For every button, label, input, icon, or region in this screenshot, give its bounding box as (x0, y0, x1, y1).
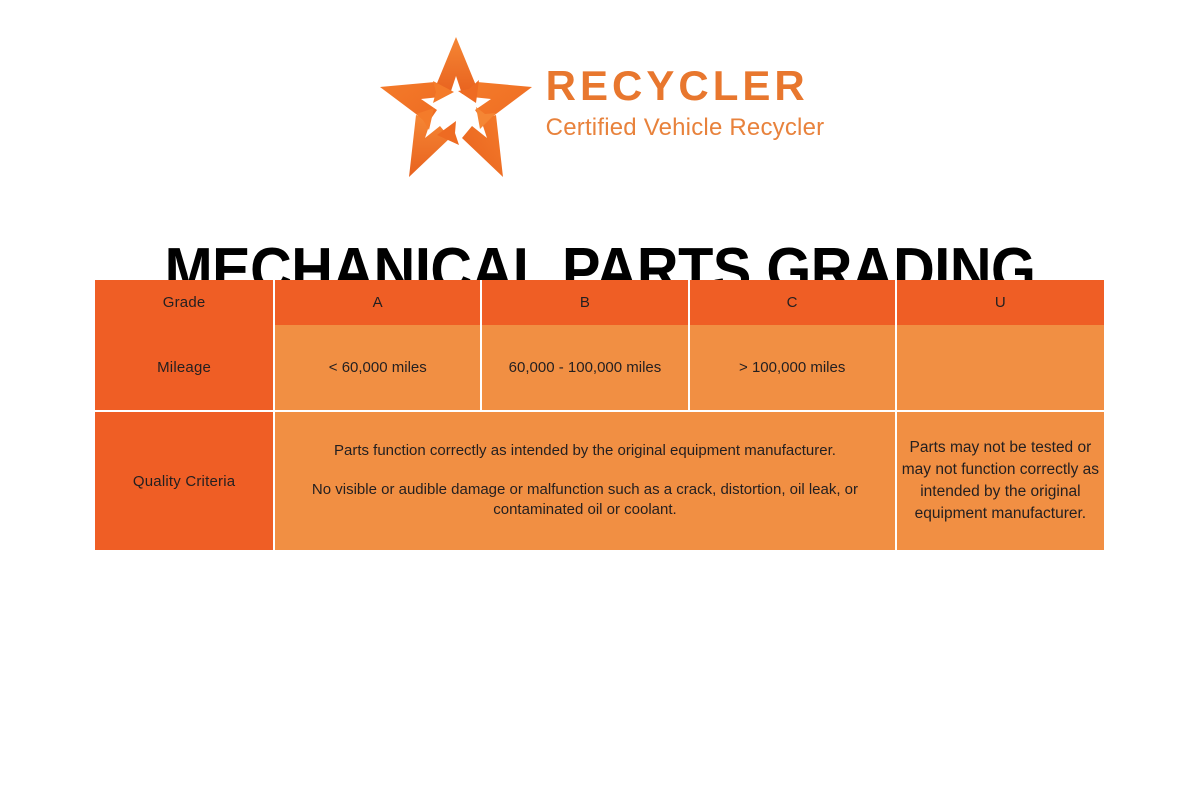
table-header-row: Grade A B C U (95, 280, 1104, 325)
quality-criteria-u-paragraph: Parts may not be tested or may not funct… (897, 437, 1104, 525)
logo-wordmark-group: RECYCLER Certified Vehicle Recycler (546, 65, 825, 146)
cell-mileage-c: > 100,000 miles (690, 325, 897, 412)
header-cell-b: B (482, 280, 689, 325)
quality-criteria-paragraph-2: No visible or audible damage or malfunct… (275, 480, 895, 521)
recycling-star-icon (376, 31, 536, 181)
logo-inner: RECYCLER Certified Vehicle Recycler (376, 31, 825, 181)
table-row-mileage: Mileage < 60,000 miles 60,000 - 100,000 … (95, 325, 1104, 412)
cell-mileage-u (897, 325, 1104, 412)
header-cell-c: C (690, 280, 897, 325)
logo-tagline: Certified Vehicle Recycler (546, 116, 825, 140)
quality-criteria-paragraph-1: Parts function correctly as intended by … (275, 441, 895, 462)
row-label-quality-criteria: Quality Criteria (95, 412, 275, 550)
cell-mileage-a: < 60,000 miles (275, 325, 482, 412)
row-label-mileage: Mileage (95, 325, 275, 412)
cell-mileage-b: 60,000 - 100,000 miles (482, 325, 689, 412)
table-row-quality-criteria: Quality Criteria Parts function correctl… (95, 412, 1104, 550)
header-cell-grade: Grade (95, 280, 275, 325)
header-cell-a: A (275, 280, 482, 325)
cell-quality-criteria-u: Parts may not be tested or may not funct… (897, 412, 1104, 550)
header-cell-u: U (897, 280, 1104, 325)
grading-table: Grade A B C U Mileage < 60,000 miles 60,… (95, 280, 1104, 550)
cell-quality-criteria-abc: Parts function correctly as intended by … (275, 412, 897, 550)
brand-logo: RECYCLER Certified Vehicle Recycler (0, 28, 1200, 183)
logo-wordmark: RECYCLER (546, 65, 825, 107)
